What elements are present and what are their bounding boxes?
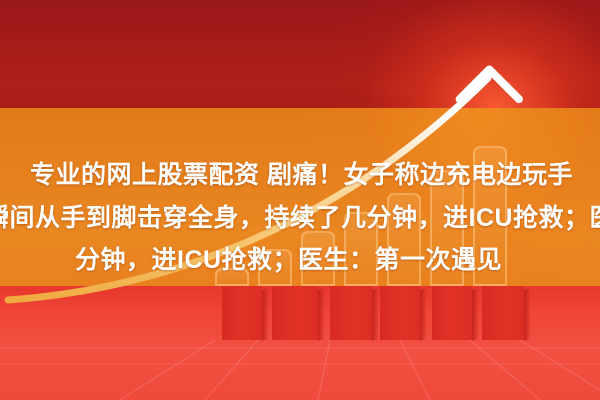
floor-bar-4 <box>380 286 420 340</box>
floor-bar-2 <box>272 286 318 340</box>
floor-bar-3 <box>330 286 372 340</box>
news-banner-image: 专业的网上股票配资 剧痛！女子称边充电边玩手 瞬间从手到脚击穿全身，持续了几分钟… <box>0 0 600 400</box>
floor-solid-bars <box>0 0 600 400</box>
floor-bar-6 <box>482 286 524 340</box>
floor-bar-1 <box>222 286 262 340</box>
floor-bar-5 <box>432 286 472 340</box>
